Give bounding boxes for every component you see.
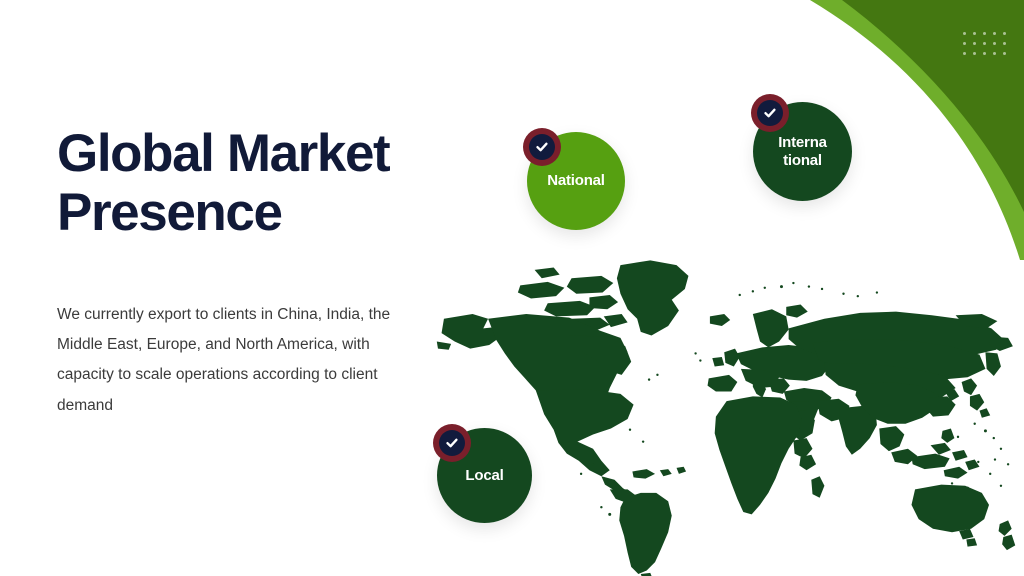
check-badge-national — [523, 128, 561, 166]
check-icon — [445, 436, 459, 450]
badge-local-label: Local — [459, 467, 509, 485]
dot — [973, 42, 976, 45]
check-icon — [535, 140, 549, 154]
check-badge-local — [433, 424, 471, 462]
badge-local[interactable]: Local — [437, 428, 532, 523]
badge-international-label: Interna tional — [772, 134, 833, 169]
dot — [993, 52, 996, 55]
dot — [1003, 52, 1006, 55]
map-landmasses — [437, 260, 1015, 576]
body-paragraph: We currently export to clients in China,… — [57, 300, 402, 421]
dot — [983, 32, 986, 35]
dot — [973, 52, 976, 55]
check-badge-international — [751, 94, 789, 132]
check-icon — [763, 106, 777, 120]
dot — [963, 32, 966, 35]
dot — [993, 42, 996, 45]
world-map — [430, 252, 1024, 576]
dot — [983, 52, 986, 55]
dot — [1003, 32, 1006, 35]
page-title: Global Market Presence — [57, 124, 457, 243]
dot — [1003, 42, 1006, 45]
badge-national-label: National — [541, 172, 611, 190]
slide-canvas: Global Market Presence We currently expo… — [0, 0, 1024, 576]
dot-grid-decoration — [963, 32, 1013, 62]
dot — [963, 42, 966, 45]
dot — [993, 32, 996, 35]
badge-national[interactable]: National — [527, 132, 625, 230]
dot — [983, 42, 986, 45]
dot — [963, 52, 966, 55]
badge-international[interactable]: Interna tional — [753, 102, 852, 201]
dot — [973, 32, 976, 35]
